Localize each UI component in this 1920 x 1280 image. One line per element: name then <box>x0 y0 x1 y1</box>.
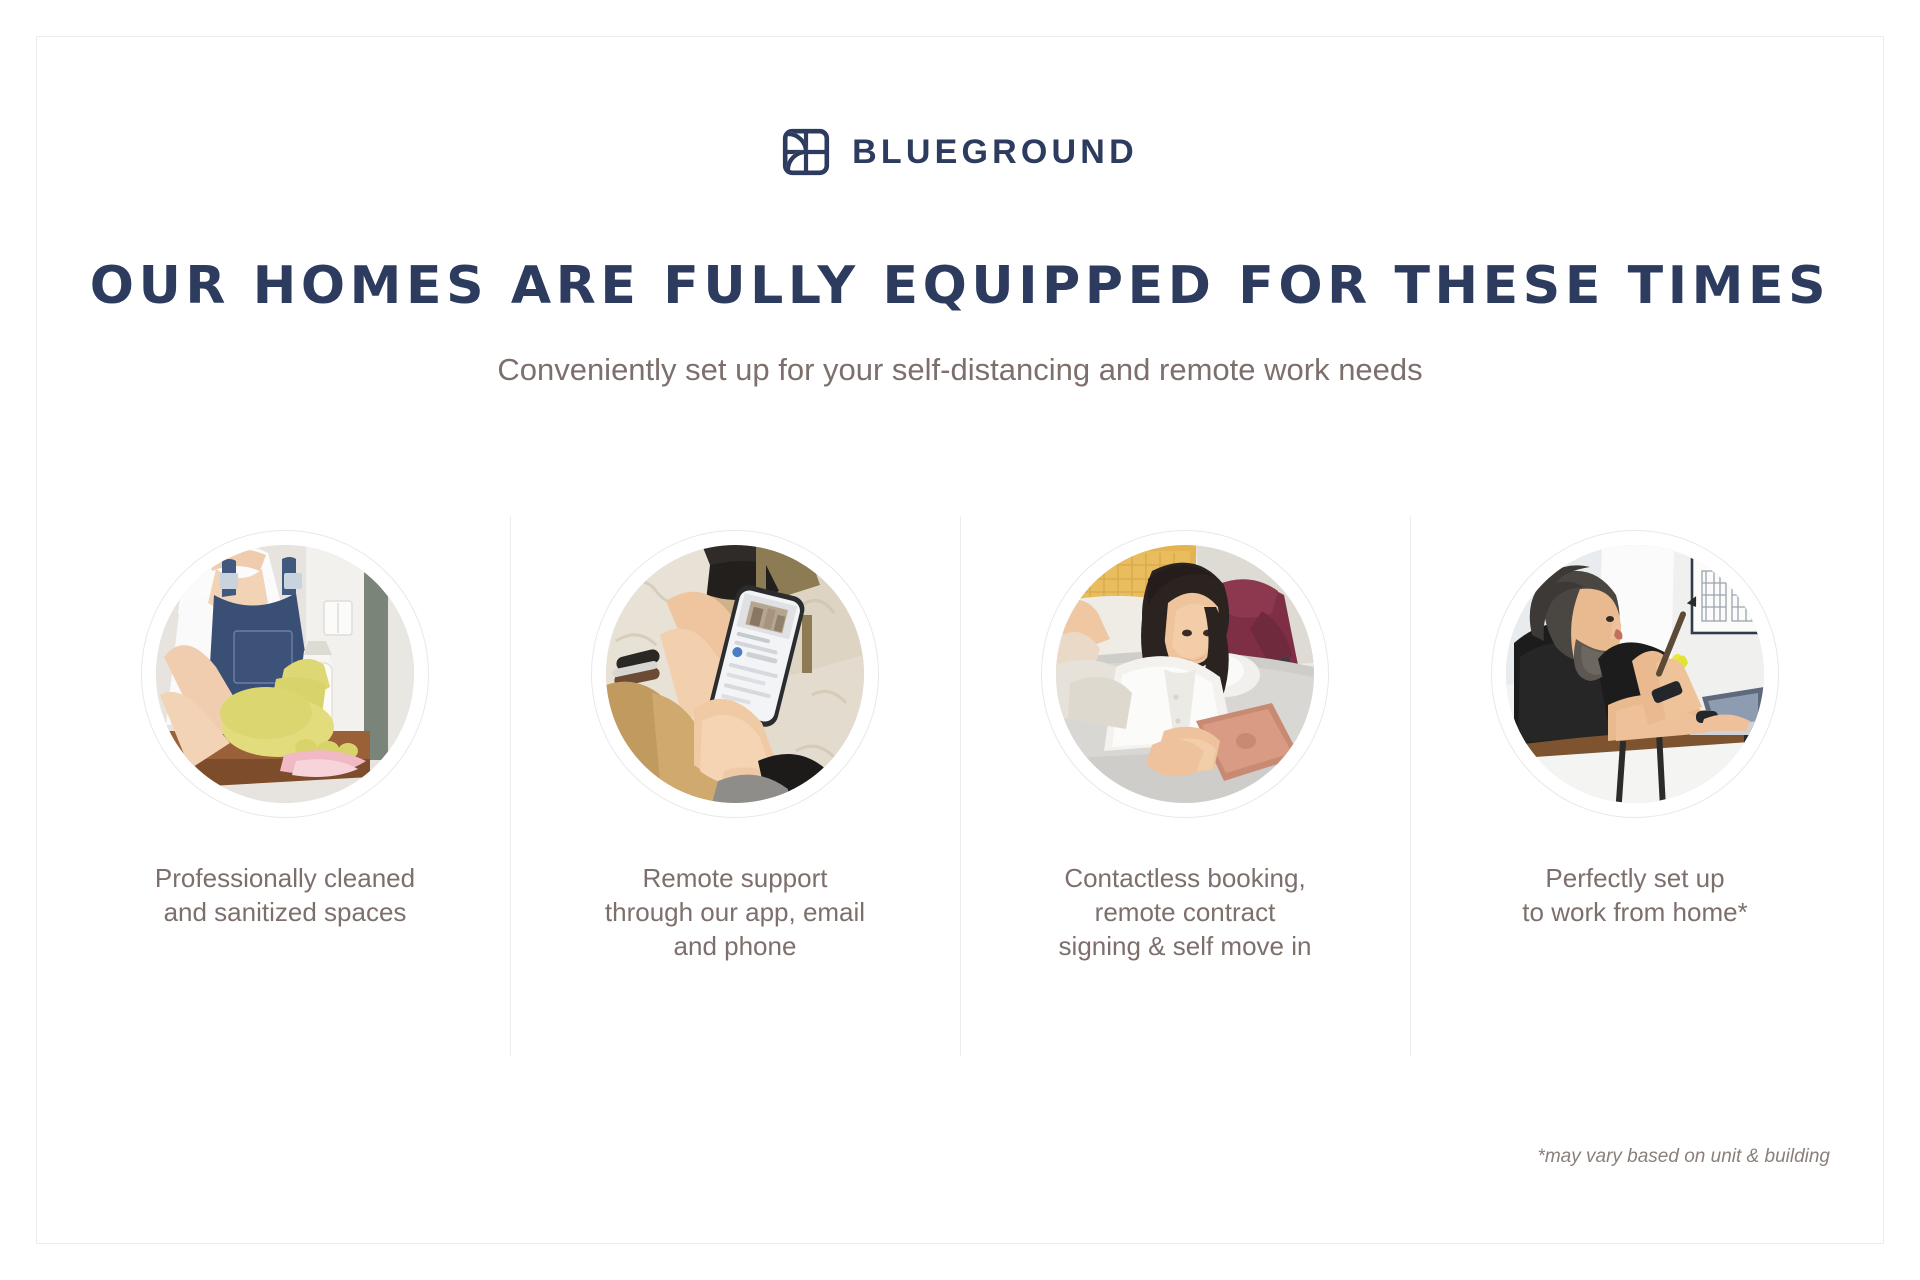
feature-caption: Contactless booking, remote contract sig… <box>1059 862 1312 963</box>
photo-ring <box>1041 530 1329 818</box>
poster: BLUEGROUND OUR HOMES ARE FULLY EQUIPPED … <box>0 0 1920 1280</box>
photo-ring <box>1491 530 1779 818</box>
photo-ring <box>141 530 429 818</box>
feature-caption: Remote support through our app, email an… <box>605 862 865 963</box>
caption-line: signing & self move in <box>1059 930 1312 964</box>
page-title: OUR HOMES ARE FULLY EQUIPPED FOR THESE T… <box>0 258 1920 315</box>
photo-remote-support <box>606 545 864 803</box>
feature-column-remote-support: Remote support through our app, email an… <box>510 512 960 1062</box>
caption-line: through our app, email <box>605 896 865 930</box>
caption-line: Perfectly set up <box>1522 862 1747 896</box>
feature-column-work-from-home: Perfectly set up to work from home* <box>1410 512 1860 1062</box>
brand-logo: BLUEGROUND <box>0 128 1920 176</box>
photo-ring <box>591 530 879 818</box>
feature-columns: Professionally cleaned and sanitized spa… <box>60 512 1860 1062</box>
page-subtitle: Conveniently set up for your self-distan… <box>0 350 1920 390</box>
feature-column-contactless-booking: Contactless booking, remote contract sig… <box>960 512 1410 1062</box>
caption-line: to work from home* <box>1522 896 1747 930</box>
caption-line: Professionally cleaned <box>155 862 415 896</box>
photo-work-from-home <box>1506 545 1764 803</box>
footnote-disclaimer: *may vary based on unit & building <box>1537 1146 1830 1168</box>
feature-caption: Professionally cleaned and sanitized spa… <box>155 862 415 930</box>
photo-professional-cleaning <box>156 545 414 803</box>
caption-line: Remote support <box>605 862 865 896</box>
brand-wordmark: BLUEGROUND <box>852 135 1138 169</box>
feature-column-cleaning: Professionally cleaned and sanitized spa… <box>60 512 510 1062</box>
caption-line: remote contract <box>1059 896 1312 930</box>
caption-line: Contactless booking, <box>1059 862 1312 896</box>
feature-caption: Perfectly set up to work from home* <box>1522 862 1747 930</box>
blueground-square-mark-icon <box>782 128 830 176</box>
caption-line: and phone <box>605 930 865 964</box>
caption-line: and sanitized spaces <box>155 896 415 930</box>
photo-contactless-booking <box>1056 545 1314 803</box>
